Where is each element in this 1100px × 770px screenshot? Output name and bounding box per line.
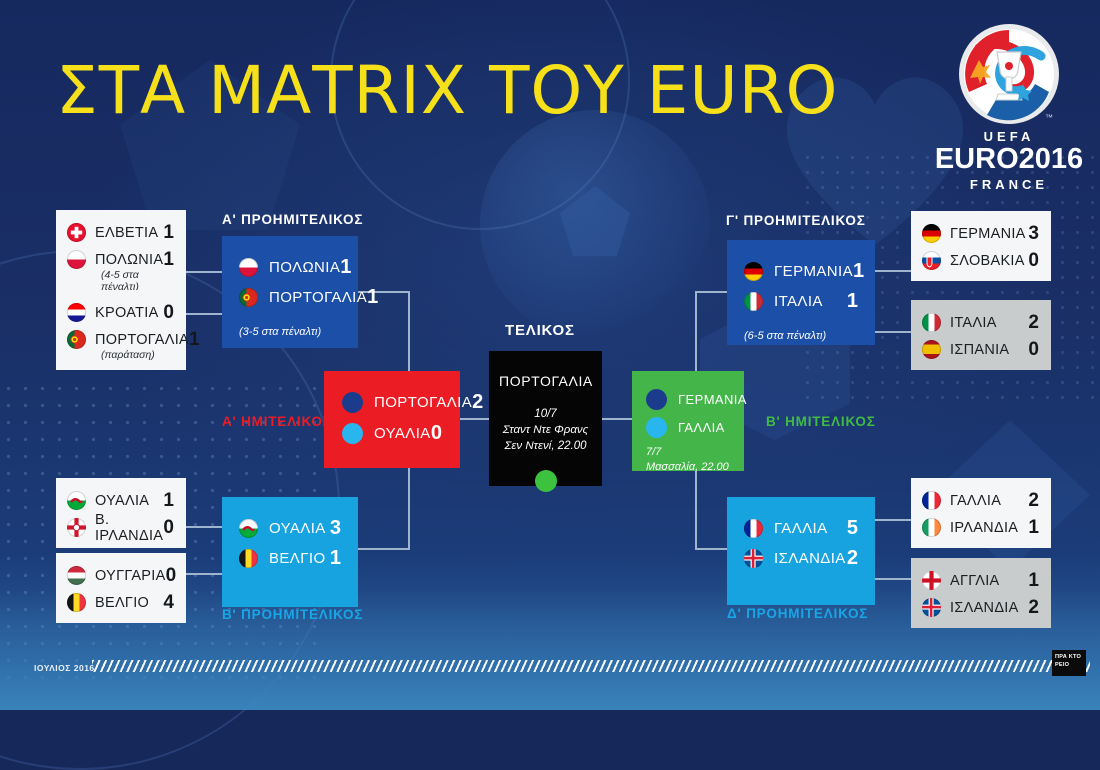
match-note: (παράταση) xyxy=(67,349,174,361)
team-name: ΙΣΛΑΝΔΙΑ xyxy=(941,600,1021,616)
team-name: ΟΥΑΛΙΑ xyxy=(86,493,156,509)
semifinal-box-a[interactable]: ΠΟΡΤΟΓΑΛΙΑ 2 ΟΥΑΛΙΑ 0 xyxy=(324,371,460,468)
team-score: 1 xyxy=(842,290,858,313)
match-row-home: ΠΟΛΩΝΙΑ 1 xyxy=(239,252,341,282)
flag-poland-icon xyxy=(239,258,258,277)
team-score: 0 xyxy=(431,422,442,445)
match-box-right-top[interactable]: ΓΕΡΜΑΝΙΑ 3 ΣΛΟΒΑΚΙΑ 0 xyxy=(911,211,1051,281)
match-row-home: ΑΓΓΛΙΑ 1 xyxy=(922,567,1039,594)
uefa-wordmark: UEFA xyxy=(934,129,1084,144)
team-name: ΟΥΓΓΑΡΙΑ xyxy=(86,568,166,584)
flag-england-icon xyxy=(922,571,941,590)
match-row-away: ΙΣΛΑΝΔΙΑ 2 xyxy=(744,543,858,573)
match-row-away: ΙΣΠΑΝΙΑ 0 xyxy=(922,336,1039,363)
match-box-right-bottom[interactable]: ΑΓΓΛΙΑ 1 ΙΣΛΑΝΔΙΑ 2 xyxy=(911,558,1051,628)
team-name: ΠΟΡΤΟΓΑΛΙΑ xyxy=(86,332,189,348)
flag-switzerland-icon xyxy=(67,223,86,242)
match-row-home: ΠΟΡΤΟΓΑΛΙΑ 2 xyxy=(342,387,442,418)
connector-r3 xyxy=(875,519,911,521)
final-green-dot-icon xyxy=(535,470,557,492)
match-row-away: ΣΛΟΒΑΚΙΑ 0 xyxy=(922,247,1039,274)
france-wordmark: FRANCE xyxy=(934,177,1084,192)
match-note: (6-5 στα πέναλτι) xyxy=(744,330,858,342)
flag-italy-icon xyxy=(744,292,763,311)
match-row-away: ΟΥΑΛΙΑ 0 xyxy=(342,418,442,449)
footer-hatch-divider xyxy=(92,660,1090,672)
match-row-home: ΕΛΒΕΤΙΑ 1 xyxy=(67,219,174,246)
team-name: ΚΡΟΑΤΙΑ xyxy=(86,305,159,321)
team-name: ΒΕΛΓΙΟ xyxy=(258,550,326,567)
team-score: 1 xyxy=(340,256,351,279)
match-row-away: ΙΤΑΛΙΑ 1 xyxy=(744,286,858,316)
footer-date: ΙΟΥΛΙΟΣ 2016 xyxy=(34,663,95,673)
semifinal-b-details: 7/7 Μασσαλία, 22.00 xyxy=(646,445,730,475)
flag-portugal-icon xyxy=(67,330,86,349)
connector-r4 xyxy=(875,578,911,580)
quarterfinal-box-b[interactable]: ΟΥΑΛΙΑ 3 ΒΕΛΓΙΟ 1 xyxy=(222,497,358,607)
label-quarterfinal-c: Γ' ΠΡΟΗΜΙΤΕΛΙΚΟΣ xyxy=(726,213,866,228)
connector-l4 xyxy=(186,573,222,575)
team-score: 1 xyxy=(853,260,864,283)
final-box[interactable]: ΠΟΡΤΟΓΑΛΙΑ 10/7 Σταντ Ντε Φρανς Σεν Ντεν… xyxy=(489,351,602,486)
team-score: 1 xyxy=(156,490,174,512)
flag-wales-icon xyxy=(239,519,258,538)
trademark-icon: ™ xyxy=(1045,113,1053,122)
team-score: 2 xyxy=(1021,597,1039,619)
match-row-away: ΒΕΛΓΙΟ 4 xyxy=(67,589,174,616)
team-score: 2 xyxy=(472,391,483,414)
connector-r2 xyxy=(875,331,911,333)
quarterfinal-box-c[interactable]: ΓΕΡΜΑΝΙΑ 1 ΙΤΑΛΙΑ 1 (6-5 στα πέναλτι) xyxy=(727,240,875,345)
flag-hungary-icon xyxy=(67,566,86,585)
label-quarterfinal-b: Β' ΠΡΟΗΜΙΤΕΛΙΚΟΣ xyxy=(222,607,363,622)
team-score: 1 xyxy=(367,286,378,309)
team-name: ΙΣΠΑΝΙΑ xyxy=(941,342,1021,358)
marker-wales-icon xyxy=(342,423,363,444)
team-score: 0 xyxy=(163,517,174,539)
flag-slovakia-icon xyxy=(922,251,941,270)
match-row-home: ΟΥΑΛΙΑ 1 xyxy=(67,487,174,514)
team-score: 1 xyxy=(1021,517,1039,539)
team-name: ΒΕΛΓΙΟ xyxy=(86,595,156,611)
team-name: ΓΑΛΛΙΑ xyxy=(667,420,730,435)
match-box-right-third[interactable]: ΓΑΛΛΙΑ 2 ΙΡΛΑΝΔΙΑ 1 xyxy=(911,478,1051,548)
final-venue-line2: Σεν Ντενί, 22.00 xyxy=(499,438,592,454)
match-box-left-second[interactable]: ΚΡΟΑΤΙΑ 0 ΠΟΡΤΟΓΑΛΙΑ 1 (παράταση) xyxy=(56,290,186,370)
label-quarterfinal-d: Δ' ΠΡΟΗΜΙΤΕΛΙΚΟΣ xyxy=(727,606,868,621)
flag-ireland-icon xyxy=(922,518,941,537)
flag-poland-icon xyxy=(67,250,86,269)
team-name: ΓΕΡΜΑΝΙΑ xyxy=(667,392,747,407)
flag-portugal-icon xyxy=(239,288,258,307)
flag-germany-icon xyxy=(744,262,763,281)
team-name: ΟΥΑΛΙΑ xyxy=(258,520,326,537)
match-row-home: ΚΡΟΑΤΙΑ 0 xyxy=(67,299,174,326)
team-score: 0 xyxy=(1021,339,1039,361)
match-row-home: ΙΤΑΛΙΑ 2 xyxy=(922,309,1039,336)
team-score: 5 xyxy=(842,517,858,540)
match-row-away: ΒΕΛΓΙΟ 1 xyxy=(239,543,341,573)
team-score: 1 xyxy=(189,329,200,351)
team-score: 4 xyxy=(156,592,174,614)
quarterfinal-box-a[interactable]: ΠΟΛΩΝΙΑ 1 ΠΟΡΤΟΓΑΛΙΑ 1 (3-5 στα πέναλτι) xyxy=(222,236,358,348)
team-score: 0 xyxy=(166,565,177,587)
final-team-name: ΠΟΡΤΟΓΑΛΙΑ xyxy=(499,373,592,389)
flag-iceland-icon xyxy=(744,549,763,568)
team-name: ΙΤΑΛΙΑ xyxy=(763,293,842,310)
team-name: ΙΡΛΑΝΔΙΑ xyxy=(941,520,1021,536)
team-score: 3 xyxy=(1026,223,1039,245)
team-name: ΓΑΛΛΙΑ xyxy=(763,520,842,537)
team-score: 0 xyxy=(1025,250,1039,272)
match-row-away: Β. ΙΡΛΑΝΔΙΑ 0 xyxy=(67,514,174,541)
label-semifinal-b: Β' ΗΜΙΤΕΛΙΚΟΣ xyxy=(766,414,876,429)
match-note: (3-5 στα πέναλτι) xyxy=(239,326,341,338)
flag-france-icon xyxy=(922,491,941,510)
flag-croatia-icon xyxy=(67,303,86,322)
flag-iceland-icon xyxy=(922,598,941,617)
team-name: ΓΕΡΜΑΝΙΑ xyxy=(941,226,1026,242)
flag-northern-ireland-icon xyxy=(67,518,86,537)
agency-logo: ΠΡΑ ΚΤΟ ΡΕΙΟ xyxy=(1052,650,1086,676)
team-name: ΑΓΓΛΙΑ xyxy=(941,573,1021,589)
connector-l1 xyxy=(186,271,222,273)
team-name: ΣΛΟΒΑΚΙΑ xyxy=(941,253,1025,269)
marker-france-icon xyxy=(646,417,667,438)
flag-germany-icon xyxy=(922,224,941,243)
flag-italy-icon xyxy=(922,313,941,332)
label-quarterfinal-a: Α' ΠΡΟΗΜΙΤΕΛΙΚΟΣ xyxy=(222,212,363,227)
team-name: ΠΟΛΩΝΙΑ xyxy=(86,252,163,268)
match-box-left-top[interactable]: ΕΛΒΕΤΙΑ 1 ΠΟΛΩΝΙΑ 1 (4-5 στα πέναλτι) xyxy=(56,210,186,302)
page-title: ΣΤΑ ΜΑΤRIX ΤΟΥ EURO xyxy=(56,52,838,129)
connector-qfc-out xyxy=(695,291,727,293)
quarterfinal-box-d[interactable]: ΓΑΛΛΙΑ 5 ΙΣΛΑΝΔΙΑ 2 xyxy=(727,497,875,605)
final-details: 10/7 Σταντ Ντε Φρανς Σεν Ντενί, 22.00 xyxy=(499,406,592,454)
team-score: 1 xyxy=(158,222,174,244)
team-name: ΓΑΛΛΙΑ xyxy=(941,493,1021,509)
flag-france-icon xyxy=(744,519,763,538)
flag-belgium-icon xyxy=(67,593,86,612)
match-row-home: ΓΑΛΛΙΑ 5 xyxy=(744,513,858,543)
connector-r1 xyxy=(875,270,911,272)
connector-l3 xyxy=(186,526,222,528)
team-score: 1 xyxy=(163,249,174,271)
euro-2016-wordmark: EURO2016 xyxy=(934,145,1084,174)
team-score: 2 xyxy=(846,547,858,570)
match-box-right-second[interactable]: ΙΤΑΛΙΑ 2 ΙΣΠΑΝΙΑ 0 xyxy=(911,300,1051,370)
match-row-home: ΟΥΓΓΑΡΙΑ 0 xyxy=(67,562,174,589)
match-row-away: ΙΡΛΑΝΔΙΑ 1 xyxy=(922,514,1039,541)
match-box-left-bottom[interactable]: ΟΥΓΓΑΡΙΑ 0 ΒΕΛΓΙΟ 4 xyxy=(56,553,186,623)
team-score: 3 xyxy=(326,517,341,540)
connector-qfb-out xyxy=(358,548,410,550)
uefa-trophy-badge-icon: ™ xyxy=(957,22,1061,126)
match-row-away: ΓΑΛΛΙΑ xyxy=(646,413,730,441)
match-row-home: ΟΥΑΛΙΑ 3 xyxy=(239,513,341,543)
connector-l2 xyxy=(186,313,222,315)
euro-2016-logo: ™ UEFA EURO2016 FRANCE xyxy=(934,22,1084,192)
team-name: ΠΟΛΩΝΙΑ xyxy=(258,259,340,276)
match-row-home: ΓΕΡΜΑΝΙΑ xyxy=(646,385,730,413)
team-name: Β. ΙΡΛΑΝΔΙΑ xyxy=(86,512,163,544)
label-semifinal-a: Α' ΗΜΙΤΕΛΙΚΟΣ xyxy=(222,414,332,429)
team-score: 0 xyxy=(159,302,174,324)
final-date: 10/7 xyxy=(499,406,592,422)
team-name: ΙΤΑΛΙΑ xyxy=(941,315,1021,331)
semifinal-b-venue: Μασσαλία, 22.00 xyxy=(646,460,730,475)
flag-spain-icon xyxy=(922,340,941,359)
flag-wales-icon xyxy=(67,491,86,510)
team-name: ΟΥΑΛΙΑ xyxy=(363,425,431,442)
team-score: 1 xyxy=(1021,570,1039,592)
match-row-away: ΠΟΡΤΟΓΑΛΙΑ 1 xyxy=(239,282,341,312)
team-name: ΙΣΛΑΝΔΙΑ xyxy=(763,550,846,567)
flag-belgium-icon xyxy=(239,549,258,568)
connector-qfd-out xyxy=(695,548,727,550)
match-row-home: ΓΑΛΛΙΑ 2 xyxy=(922,487,1039,514)
final-venue-line1: Σταντ Ντε Φρανς xyxy=(499,422,592,438)
team-score: 2 xyxy=(1021,490,1039,512)
match-box-left-third[interactable]: ΟΥΑΛΙΑ 1 Β. ΙΡΛΑΝΔΙΑ 0 xyxy=(56,478,186,548)
marker-germany-icon xyxy=(646,389,667,410)
match-row-home: ΓΕΡΜΑΝΙΑ 3 xyxy=(922,220,1039,247)
match-row-away: ΙΣΛΑΝΔΙΑ 2 xyxy=(922,594,1039,621)
team-name: ΓΕΡΜΑΝΙΑ xyxy=(763,263,853,280)
team-score: 2 xyxy=(1021,312,1039,334)
semifinal-b-date: 7/7 xyxy=(646,445,730,460)
semifinal-box-b[interactable]: ΓΕΡΜΑΝΙΑ ΓΑΛΛΙΑ 7/7 Μασσαλία, 22.00 xyxy=(632,371,744,471)
team-name: ΕΛΒΕΤΙΑ xyxy=(86,225,158,241)
match-row-home: ΓΕΡΜΑΝΙΑ 1 xyxy=(744,256,858,286)
label-final: ΤΕΛΙΚΟΣ xyxy=(505,322,575,339)
marker-portugal-icon xyxy=(342,392,363,413)
team-score: 1 xyxy=(326,547,341,570)
team-name: ΠΟΡΤΟΓΑΛΙΑ xyxy=(258,289,367,306)
team-name: ΠΟΡΤΟΓΑΛΙΑ xyxy=(363,394,472,411)
